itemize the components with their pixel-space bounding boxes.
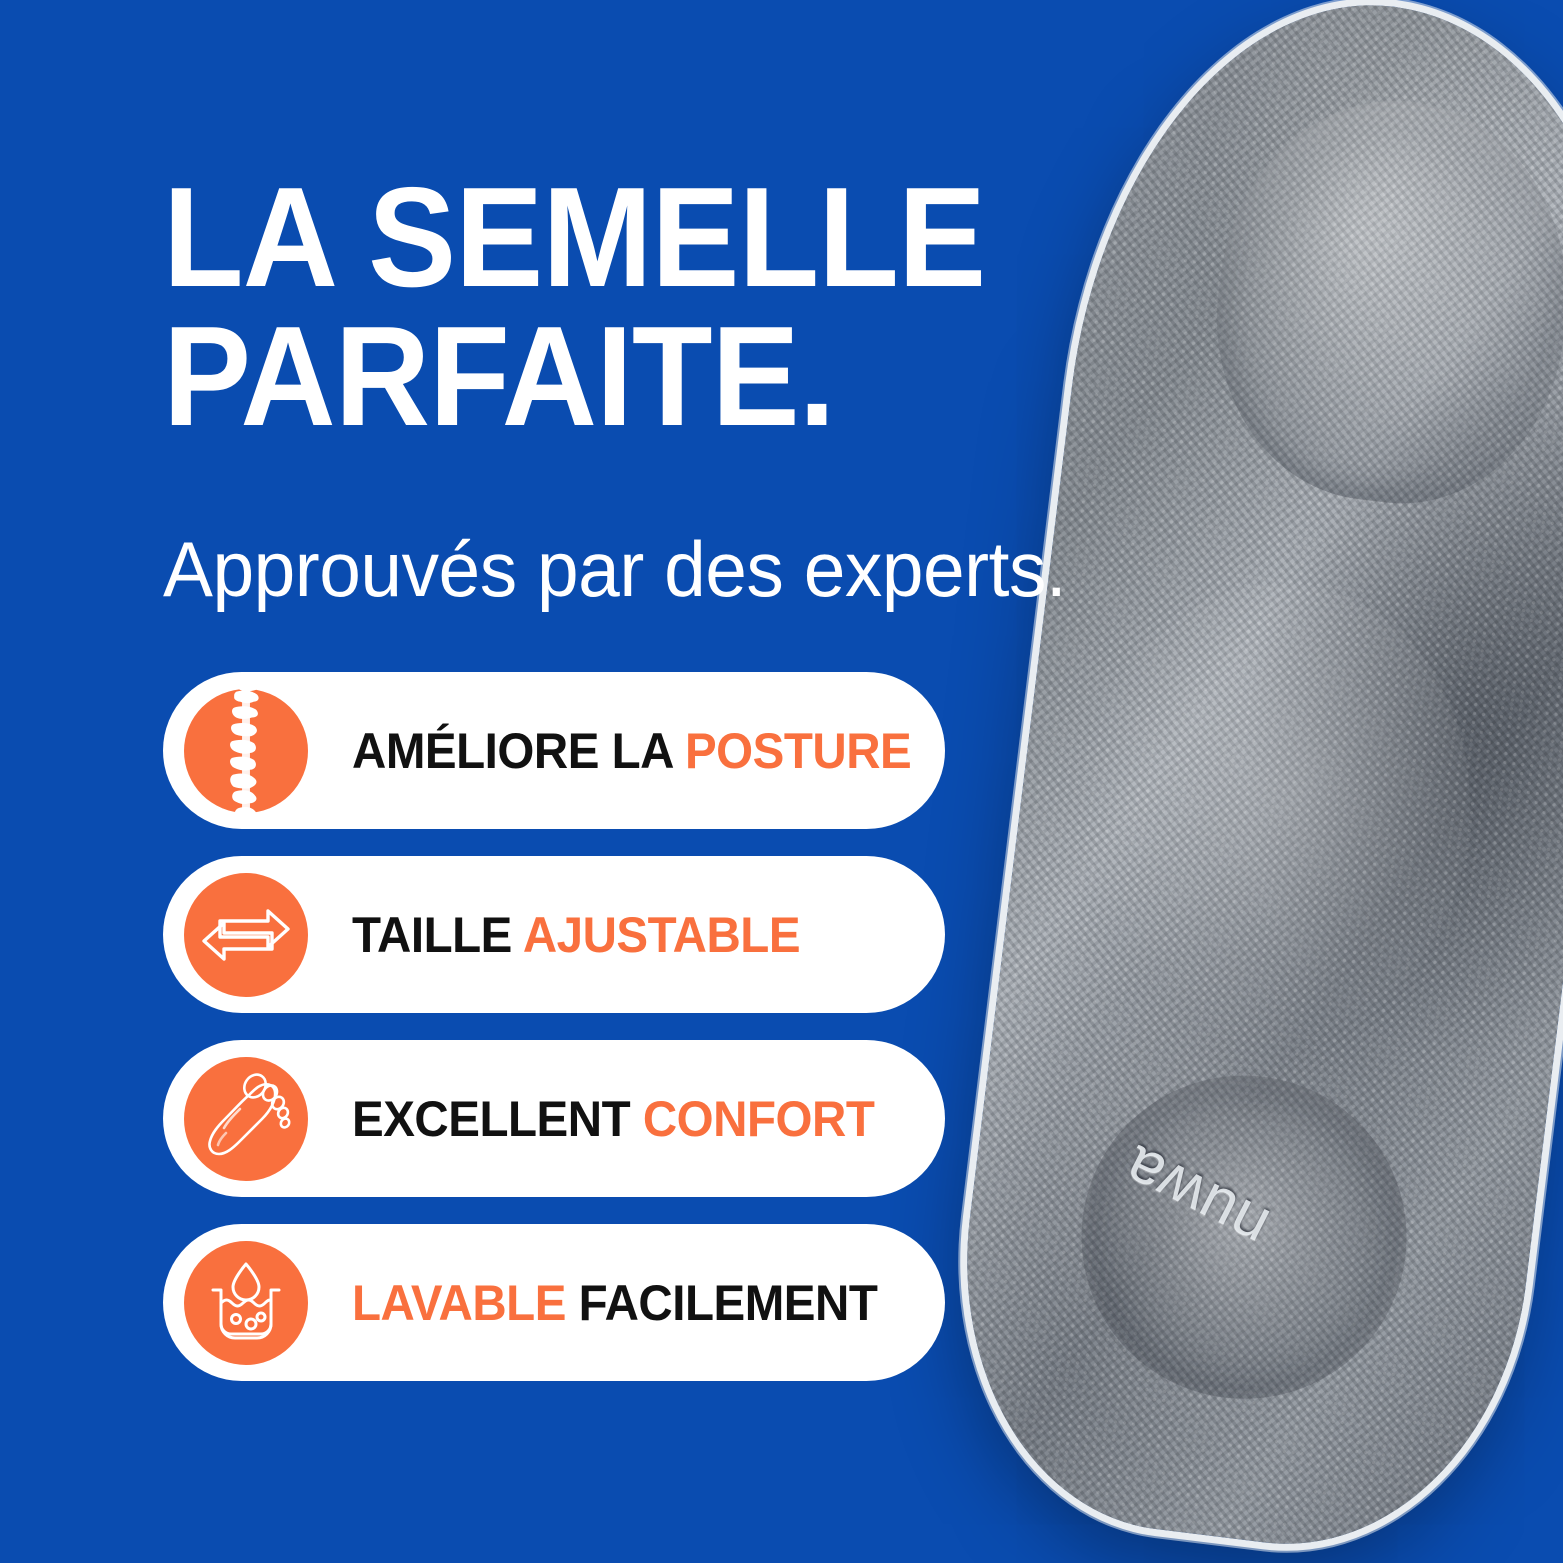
feature-label-posture: AMÉLIORE LA POSTURE bbox=[352, 722, 911, 780]
insole-dot-texture bbox=[935, 0, 1563, 1563]
feature-label-plain: AMÉLIORE LA bbox=[352, 723, 672, 779]
page-title: LA SEMELLE PARFAITE. bbox=[163, 168, 1028, 446]
feature-label-plain: FACILEMENT bbox=[579, 1275, 878, 1331]
insole-heel-cup bbox=[1063, 1057, 1425, 1418]
feature-label-comfort: EXCELLENT CONFORT bbox=[352, 1090, 874, 1148]
feature-label-highlight: AJUSTABLE bbox=[523, 907, 800, 963]
page-subtitle: Approuvés par des experts. bbox=[163, 524, 1066, 615]
spine-icon bbox=[184, 689, 308, 813]
feature-list: AMÉLIORE LA POSTURE TAILLE AJUSTABLE bbox=[163, 672, 945, 1381]
feature-label-highlight: CONFORT bbox=[643, 1091, 875, 1147]
insole-mesh-texture bbox=[935, 0, 1563, 1563]
footprint-icon bbox=[184, 1057, 308, 1181]
feature-label-washable: LAVABLE FACILEMENT bbox=[352, 1274, 877, 1332]
brand-wordmark-emboss: nuwa bbox=[1112, 1131, 1280, 1263]
feature-pill-washable[interactable]: LAVABLE FACILEMENT bbox=[163, 1224, 945, 1381]
resize-arrows-icon bbox=[184, 873, 308, 997]
insole-arch-support bbox=[1051, 561, 1496, 1067]
washable-water-icon bbox=[184, 1241, 308, 1365]
feature-pill-posture[interactable]: AMÉLIORE LA POSTURE bbox=[163, 672, 945, 829]
insole-forefoot-pad bbox=[1196, 82, 1563, 522]
promo-banner: nuwa LA SEMELLE PARFAITE. Approuvés par … bbox=[0, 0, 1563, 1563]
insole-body: nuwa bbox=[935, 0, 1563, 1563]
feature-label-plain: EXCELLENT bbox=[352, 1091, 630, 1147]
feature-pill-comfort[interactable]: EXCELLENT CONFORT bbox=[163, 1040, 945, 1197]
feature-label-highlight: POSTURE bbox=[685, 723, 911, 779]
feature-label-plain: TAILLE bbox=[352, 907, 512, 963]
feature-pill-adjustable[interactable]: TAILLE AJUSTABLE bbox=[163, 856, 945, 1013]
feature-label-highlight: LAVABLE bbox=[352, 1275, 566, 1331]
feature-label-adjustable: TAILLE AJUSTABLE bbox=[352, 906, 800, 964]
